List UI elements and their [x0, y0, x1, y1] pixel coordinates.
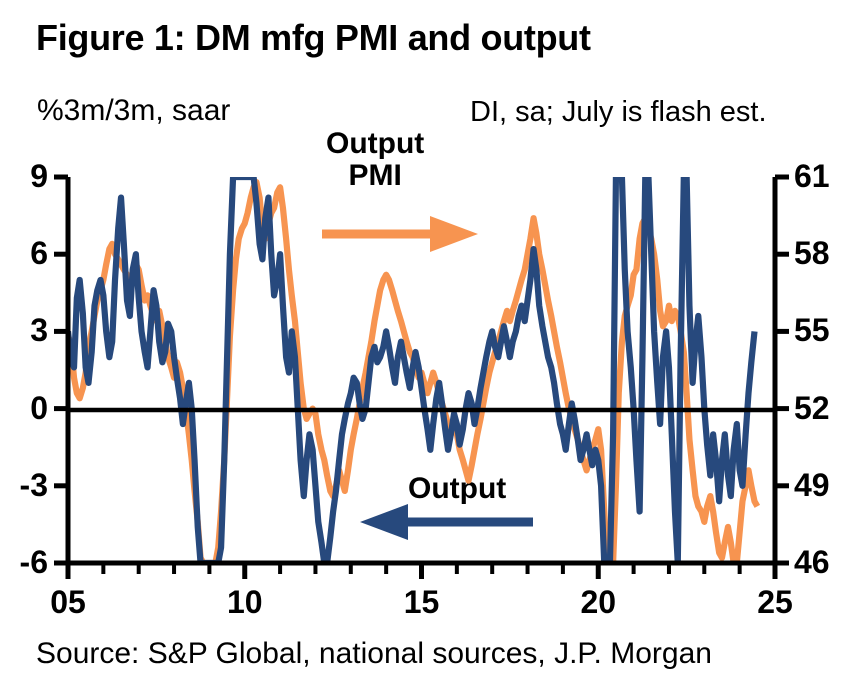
arrow-output-left	[360, 504, 533, 540]
y-tick-label-right: 46	[794, 546, 830, 578]
figure-container: Figure 1: DM mfg PMI and output %3m/3m, …	[0, 0, 852, 689]
source-note: Source: S&P Global, national sources, J.…	[36, 639, 712, 669]
y-tick-label-left: 0	[0, 392, 48, 424]
y-tick-label-left: 6	[0, 237, 48, 269]
y-tick-label-left: -3	[0, 469, 48, 501]
y-tick-label-right: 61	[794, 160, 830, 192]
y-tick-label-left: 3	[0, 314, 48, 346]
x-tick-label: 10	[205, 586, 285, 618]
y-tick-label-right: 58	[794, 237, 830, 269]
y-tick-label-right: 52	[794, 392, 830, 424]
y-tick-label-right: 49	[794, 469, 830, 501]
y-tick-label-right: 55	[794, 314, 830, 346]
x-tick-label: 25	[735, 586, 815, 618]
arrow-output-pmi-right	[322, 216, 478, 252]
y-tick-label-left: -6	[0, 546, 48, 578]
x-tick-label: 20	[558, 586, 638, 618]
x-tick-label: 15	[382, 586, 462, 618]
x-tick-label: 05	[28, 586, 108, 618]
y-tick-label-left: 9	[0, 160, 48, 192]
